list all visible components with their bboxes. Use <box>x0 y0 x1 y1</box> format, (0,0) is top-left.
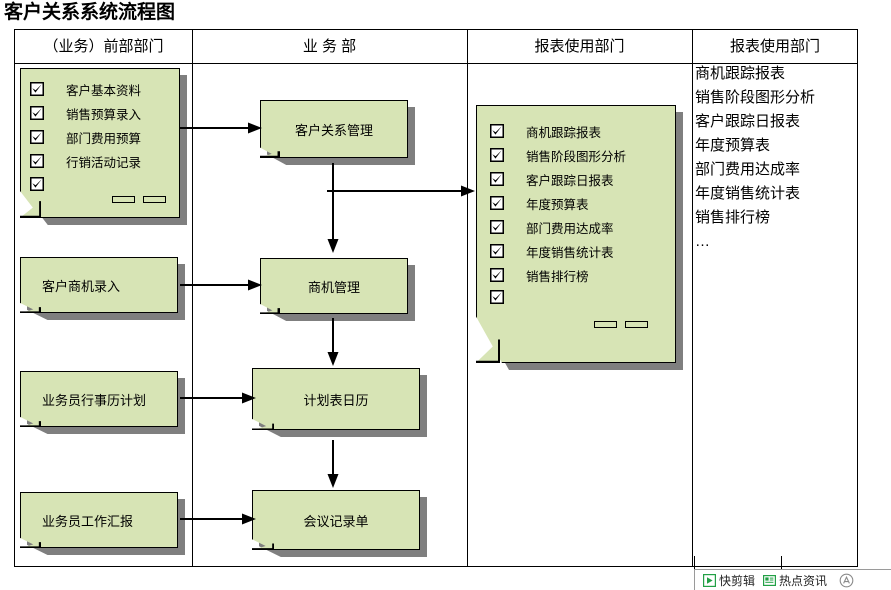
play-video-icon <box>703 574 716 587</box>
list-item[interactable]: 客户基本资料 <box>30 77 174 101</box>
report-usage-list: 商机跟踪报表 销售阶段图形分析 客户跟踪日报表 年度预算表 部门费用达成率 年度… <box>691 62 861 254</box>
box-label: 客户商机录入 <box>20 257 178 313</box>
checkbox-checked-icon <box>30 154 44 168</box>
list-item[interactable]: 客户跟踪日报表 <box>490 167 670 191</box>
list-item[interactable]: 年度销售统计表 <box>490 239 670 263</box>
taskbar-tick-left <box>694 556 695 570</box>
taskbar-item-hot-news[interactable]: 热点资讯 <box>763 572 827 589</box>
box-label: 商机管理 <box>260 258 408 314</box>
list-item: 销售排行榜 <box>691 206 861 230</box>
footer-mark <box>112 196 135 203</box>
footer-mark <box>625 321 648 328</box>
list-item[interactable]: 销售预算录入 <box>30 101 174 125</box>
arrow-opportunity-down-to-schedule <box>327 318 339 366</box>
list-item: 商机跟踪报表 <box>691 62 861 86</box>
taskbar: 快剪辑 热点资讯 <box>694 569 891 590</box>
checkbox-checked-icon <box>30 106 44 120</box>
arrow-crm-down-to-opportunity <box>327 163 339 253</box>
list-item[interactable]: 销售排行榜 <box>490 263 670 287</box>
taskbar-tick-right <box>781 556 782 570</box>
process-box-schedule-calendar[interactable]: 计划表日历 <box>252 368 420 430</box>
taskbar-item-label: 热点资讯 <box>779 572 827 589</box>
taskbar-item-label: 快剪辑 <box>719 572 755 589</box>
list-item-empty <box>30 173 174 195</box>
list-item[interactable]: 部门费用达成率 <box>490 215 670 239</box>
checkbox-checked-icon <box>490 172 504 186</box>
box-label: 会议记录单 <box>252 490 420 550</box>
list-item-label: 年度预算表 <box>526 194 589 213</box>
list-item-label: 部门费用达成率 <box>526 218 614 237</box>
list-item-label: 销售预算录入 <box>66 104 141 123</box>
page-title: 客户关系系统流程图 <box>4 0 175 26</box>
list-item[interactable]: 销售阶段图形分析 <box>490 143 670 167</box>
list-item-label: 部门费用预算 <box>66 128 141 147</box>
column-divider-1 <box>192 30 193 566</box>
arrow-opportunity-entry-to-management <box>180 279 262 291</box>
process-box-salesperson-work-report[interactable]: 业务员工作汇报 <box>20 492 178 548</box>
list-item-label: 行销活动记录 <box>66 152 141 171</box>
process-box-customer-opportunity-entry[interactable]: 客户商机录入 <box>20 257 178 313</box>
list-item: 年度销售统计表 <box>691 182 861 206</box>
checkbox-checked-icon <box>490 196 504 210</box>
list-item: 客户跟踪日报表 <box>691 110 861 134</box>
checkbox-checked-icon <box>30 177 44 191</box>
list-item-label: 年度销售统计表 <box>526 242 614 261</box>
list-item[interactable]: 年度预算表 <box>490 191 670 215</box>
arrow-crm-to-report-document <box>327 185 475 197</box>
arrow-work-report-to-meeting-minutes <box>180 513 256 525</box>
circle-a-icon[interactable] <box>839 573 854 588</box>
folded-corner <box>476 324 500 363</box>
list-item[interactable]: 部门费用预算 <box>30 125 174 149</box>
process-box-crm[interactable]: 客户关系管理 <box>260 100 408 158</box>
list-item-ellipsis: … <box>691 230 861 254</box>
list-item[interactable]: 行销活动记录 <box>30 149 174 173</box>
box-label: 客户关系管理 <box>260 100 408 158</box>
list-item-label: 客户跟踪日报表 <box>526 170 614 189</box>
arrow-checklist-to-crm <box>180 122 262 134</box>
box-label: 业务员行事历计划 <box>20 371 178 427</box>
process-box-salesperson-calendar-plan[interactable]: 业务员行事历计划 <box>20 371 178 427</box>
column-header-front-office: （业务）前部部门 <box>15 30 192 63</box>
column-header-report-user-dept-2: 报表使用部门 <box>692 30 858 63</box>
column-header-report-user-dept-1: 报表使用部门 <box>467 30 692 63</box>
arrow-calendar-plan-to-schedule <box>180 392 256 404</box>
box-label: 业务员工作汇报 <box>20 492 178 548</box>
checkbox-checked-icon <box>490 148 504 162</box>
list-item-label: 客户基本资料 <box>66 80 141 99</box>
checkbox-checked-icon <box>490 290 504 304</box>
process-box-meeting-minutes[interactable]: 会议记录单 <box>252 490 420 550</box>
checkbox-checked-icon <box>30 82 44 96</box>
document-customer-input-list[interactable]: 客户基本资料 销售预算录入 部门费用预算 行销活动记录 <box>20 68 180 218</box>
column-header-sales-dept: 业 务 部 <box>192 30 467 63</box>
list-item: 销售阶段图形分析 <box>691 86 861 110</box>
list-item-label: 商机跟踪报表 <box>526 122 601 141</box>
list-item-label: 销售阶段图形分析 <box>526 146 626 165</box>
list-item-empty <box>490 287 670 307</box>
document-report-list[interactable]: 商机跟踪报表 销售阶段图形分析 客户跟踪日报表 年度预算表 部门费用达成率 <box>476 105 676 363</box>
box-label: 计划表日历 <box>252 368 420 430</box>
checkbox-checked-icon <box>490 124 504 138</box>
checklist-rows: 商机跟踪报表 销售阶段图形分析 客户跟踪日报表 年度预算表 部门费用达成率 <box>490 119 670 307</box>
document-footer-marks <box>594 321 648 328</box>
list-item: 年度预算表 <box>691 134 861 158</box>
checkbox-checked-icon <box>490 244 504 258</box>
process-box-opportunity-management[interactable]: 商机管理 <box>260 258 408 314</box>
document-footer-marks <box>112 196 166 203</box>
column-divider-2 <box>467 30 468 566</box>
taskbar-item-video-editor[interactable]: 快剪辑 <box>703 572 755 589</box>
footer-mark <box>143 196 166 203</box>
news-panel-icon <box>763 574 776 587</box>
footer-mark <box>594 321 617 328</box>
list-item[interactable]: 商机跟踪报表 <box>490 119 670 143</box>
checkbox-checked-icon <box>490 268 504 282</box>
list-item: 部门费用达成率 <box>691 158 861 182</box>
list-item-label: 销售排行榜 <box>526 266 589 285</box>
arrow-schedule-down-to-meeting <box>327 440 339 488</box>
checkbox-checked-icon <box>490 220 504 234</box>
checkbox-checked-icon <box>30 130 44 144</box>
checklist-rows: 客户基本资料 销售预算录入 部门费用预算 行销活动记录 <box>30 77 174 195</box>
